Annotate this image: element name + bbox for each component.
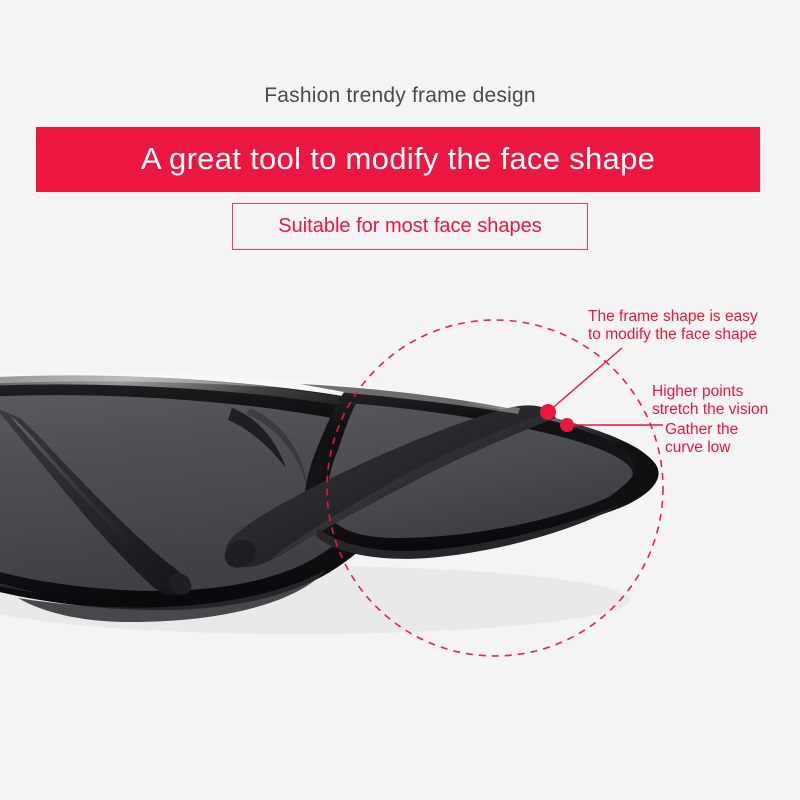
annotation-higher-points-line1: Higher points [652,383,768,401]
sunglasses-illustration [0,373,659,634]
annotation-frame-shape: The frame shape is easy to modify the fa… [588,308,758,345]
annotation-gather-curve-line1: Gather the [665,421,738,439]
annotation-gather-curve-line2: curve low [665,439,738,457]
subheadline-box: Suitable for most face shapes [232,203,588,250]
annotation-frame-shape-line2: to modify the face shape [588,326,758,344]
annotation-higher-points-line2: stretch the vision [652,401,768,419]
headline-banner: A great tool to modify the face shape [36,127,760,192]
page-subtitle: Fashion trendy frame design [0,84,800,108]
product-photo [0,300,800,800]
annotation-gather-curve: Gather the curve low [665,421,738,458]
annotation-frame-shape-line1: The frame shape is easy [588,308,758,326]
product-feature-graphic: Fashion trendy frame design A great tool… [0,0,800,800]
annotation-higher-points: Higher points stretch the vision [652,383,768,420]
headline-text: A great tool to modify the face shape [141,141,655,177]
subheadline-text: Suitable for most face shapes [278,215,541,238]
